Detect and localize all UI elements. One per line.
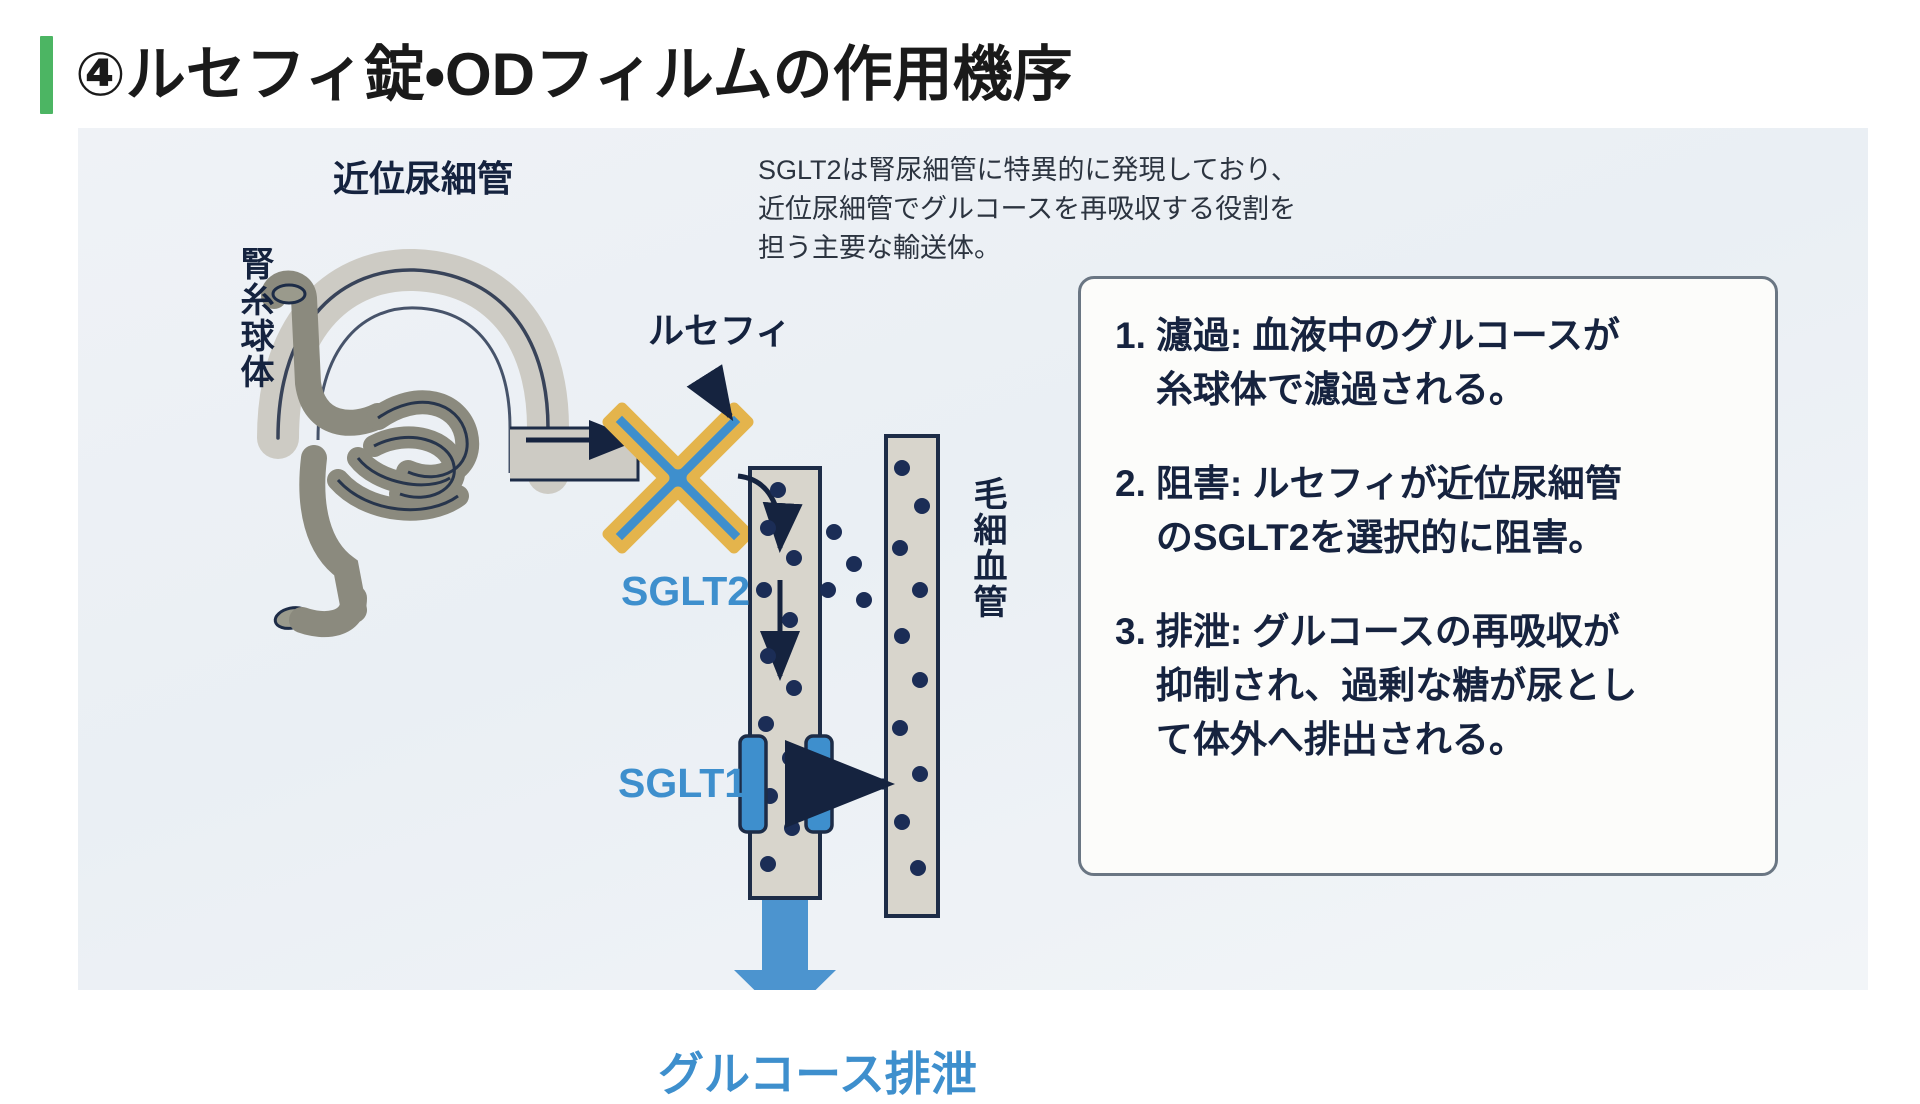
label-lusefi: ルセフィ (648, 302, 791, 354)
step-item: 1.濾過: 血液中のグルコースが糸球体で濾過される。 (1115, 309, 1741, 417)
label-proximal-tubule: 近位尿細管 (333, 150, 513, 202)
step-number: 3. (1115, 605, 1146, 767)
capillary-vessel (886, 436, 938, 916)
step-text: 阻害: ルセフィが近位尿細管のSGLT2を選択的に阻害。 (1156, 457, 1622, 565)
label-sglt2: SGLT2 (621, 568, 750, 615)
step-text: 濾過: 血液中のグルコースが糸球体で濾過される。 (1156, 309, 1620, 417)
glucose-dots-interstitium (820, 524, 872, 608)
mechanism-steps-box: 1.濾過: 血液中のグルコースが糸球体で濾過される。2.阻害: ルセフィが近位尿… (1078, 276, 1778, 876)
title-label: ④ルセフィ錠・ODフィルムの作用機序 (75, 45, 1073, 105)
lusefi-pointer-arrow (706, 378, 730, 416)
step-text: 排泄: グルコースの再吸収が抑制され、過剰な糖が尿として体外へ排出される。 (1156, 605, 1637, 767)
label-sglt1: SGLT1 (618, 760, 747, 807)
step-text-line: 阻害: ルセフィが近位尿細管 (1156, 457, 1622, 511)
step-text-line: 糸球体で濾過される。 (1156, 363, 1620, 417)
content-panel: SGLT2は腎尿細管に特異的に発現しており、 近位尿細管でグルコースを再吸収する… (78, 128, 1868, 990)
step-number: 1. (1115, 309, 1146, 417)
page-title: ④ルセフィ錠・ODフィルムの作用機序 (40, 36, 1073, 114)
glucose-excretion-arrow (734, 900, 836, 990)
steps-list: 1.濾過: 血液中のグルコースが糸球体で濾過される。2.阻害: ルセフィが近位尿… (1115, 309, 1741, 767)
step-text-line: 抑制され、過剰な糖が尿とし (1156, 659, 1637, 713)
title-accent-bar (40, 36, 53, 114)
step-text-line: 排泄: グルコースの再吸収が (1156, 605, 1637, 659)
label-glomerulus: 腎糸球体 (230, 246, 279, 390)
mechanism-diagram: 近位尿細管 腎糸球体 ルセフィ SGLT2 SGLT1 毛細血管 グルコース排泄 (78, 128, 1118, 990)
slide-root: ④ルセフィ錠・ODフィルムの作用機序 SGLT2は腎尿細管に特異的に発現しており… (0, 0, 1920, 1080)
step-text-line: 濾過: 血液中のグルコースが (1156, 309, 1620, 363)
step-item: 3.排泄: グルコースの再吸収が抑制され、過剰な糖が尿として体外へ排出される。 (1115, 605, 1741, 767)
step-text-line: て体外へ排出される。 (1156, 713, 1637, 767)
glomerulus-tuft (273, 284, 467, 632)
step-item: 2.阻害: ルセフィが近位尿細管のSGLT2を選択的に阻害。 (1115, 457, 1741, 565)
step-text-line: のSGLT2を選択的に阻害。 (1156, 511, 1622, 565)
label-glucose-excretion: グルコース排泄 (658, 1038, 977, 1104)
label-capillary: 毛細血管 (963, 476, 1012, 620)
step-number: 2. (1115, 457, 1146, 565)
